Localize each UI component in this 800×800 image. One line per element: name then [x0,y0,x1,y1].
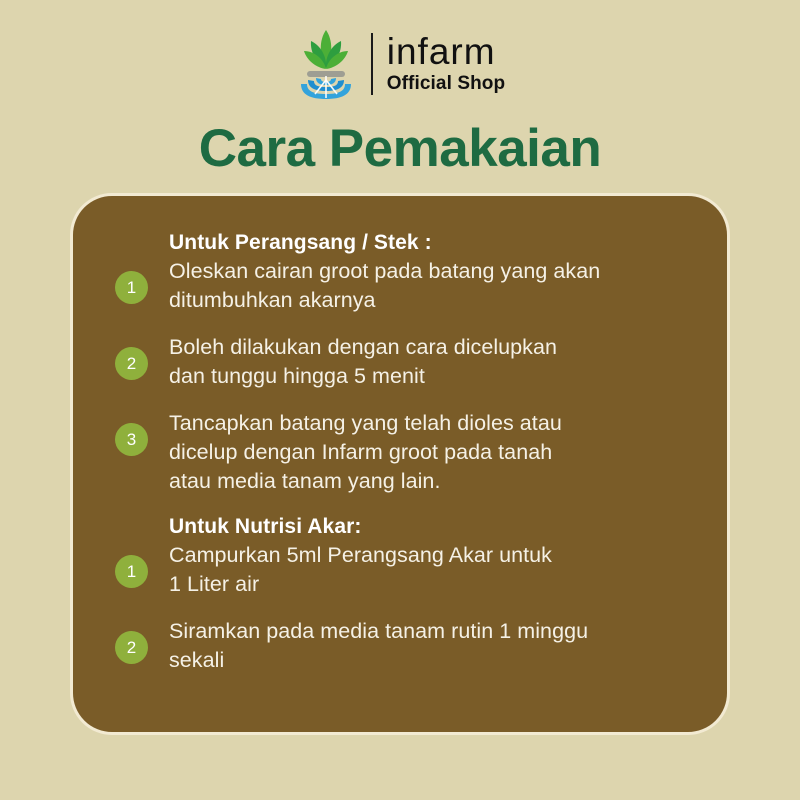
brand-header: infarm Official Shop [0,26,800,102]
instructions-content: Untuk Perangsang / Stek : 1 Oleskan cair… [115,230,709,693]
list-item: 2 Siramkan pada media tanam rutin 1 ming… [115,617,709,675]
list-item: 1 Oleskan cairan groot pada batang yang … [115,257,709,315]
section-heading: Untuk Perangsang / Stek : [169,230,709,256]
list-item: 3 Tancapkan batang yang telah dioles ata… [115,409,709,496]
step-text: Oleskan cairan groot pada batang yang ak… [169,257,709,315]
step-text: Boleh dilakukan dengan cara dicelupkan d… [169,333,709,391]
brand-divider [371,33,373,95]
step-number-badge: 1 [115,271,148,304]
step-number-badge: 2 [115,631,148,664]
step-number-badge: 3 [115,423,148,456]
infarm-leaf-root-logo-icon [295,28,357,100]
step-text: Siramkan pada media tanam rutin 1 minggu… [169,617,709,675]
page-title: Cara Pemakaian [0,118,800,180]
instructions-card: Untuk Perangsang / Stek : 1 Oleskan cair… [70,193,730,735]
brand-subtitle: Official Shop [387,72,505,96]
section-nutrisi-akar: Untuk Nutrisi Akar: 1 Campurkan 5ml Pera… [115,514,709,675]
step-number-badge: 1 [115,555,148,588]
section-perangsang-stek: Untuk Perangsang / Stek : 1 Oleskan cair… [115,230,709,496]
step-text: Campurkan 5ml Perangsang Akar untuk 1 Li… [169,541,709,599]
step-text: Tancapkan batang yang telah dioles atau … [169,409,709,496]
list-item: 2 Boleh dilakukan dengan cara dicelupkan… [115,333,709,391]
section-heading: Untuk Nutrisi Akar: [169,514,709,540]
brand-name: infarm [387,33,496,71]
step-number-badge: 2 [115,347,148,380]
list-item: 1 Campurkan 5ml Perangsang Akar untuk 1 … [115,541,709,599]
brand-wordmark: infarm Official Shop [387,30,505,98]
